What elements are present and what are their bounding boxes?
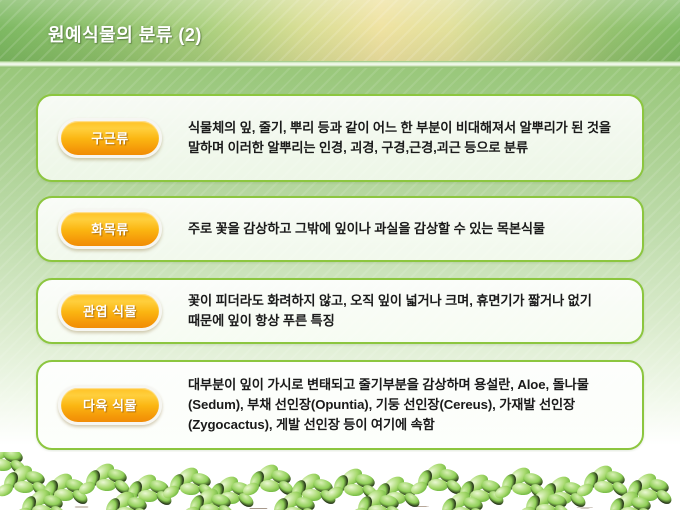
category-description: 꽃이 피더라도 화려하지 않고, 오직 잎이 넓거나 크며, 휴면기가 짧거나 … — [188, 291, 630, 331]
category-description: 식물체의 잎, 줄기, 뿌리 등과 같이 어느 한 부분이 비대해져서 알뿌리가… — [188, 118, 630, 158]
classification-card: 화목류 주로 꽃을 감상하고 그밖에 잎이나 과실을 감상할 수 있는 목본식물 — [36, 196, 644, 262]
classification-card: 다육 식물 대부분이 잎이 가시로 변태되고 줄기부분을 감상하며 용설란, A… — [36, 360, 644, 450]
category-pill-wrap: 다육 식물 — [58, 385, 162, 425]
category-label-badge[interactable]: 화목류 — [58, 209, 162, 249]
category-description: 대부분이 잎이 가시로 변태되고 줄기부분을 감상하며 용설란, Aloe, 돌… — [188, 375, 630, 435]
content-rows: 구근류 식물체의 잎, 줄기, 뿌리 등과 같이 어느 한 부분이 비대해져서 … — [0, 0, 680, 510]
category-pill-wrap: 구근류 — [58, 118, 162, 158]
leaf-decoration-band — [0, 452, 680, 510]
category-description: 주로 꽃을 감상하고 그밖에 잎이나 과실을 감상할 수 있는 목본식물 — [188, 219, 630, 239]
classification-card: 구근류 식물체의 잎, 줄기, 뿌리 등과 같이 어느 한 부분이 비대해져서 … — [36, 94, 644, 182]
category-label-badge[interactable]: 관엽 식물 — [58, 291, 162, 331]
category-label-badge[interactable]: 다육 식물 — [58, 385, 162, 425]
seedling-leaves-icon — [0, 452, 680, 510]
classification-card: 관엽 식물 꽃이 피더라도 화려하지 않고, 오직 잎이 넓거나 크며, 휴면기… — [36, 278, 644, 344]
presentation-slide: 원예식물의 분류 (2) 구근류 식물체의 잎, 줄기, 뿌리 등과 같이 어느… — [0, 0, 680, 510]
category-label-badge[interactable]: 구근류 — [58, 118, 162, 158]
category-pill-wrap: 관엽 식물 — [58, 291, 162, 331]
category-pill-wrap: 화목류 — [58, 209, 162, 249]
